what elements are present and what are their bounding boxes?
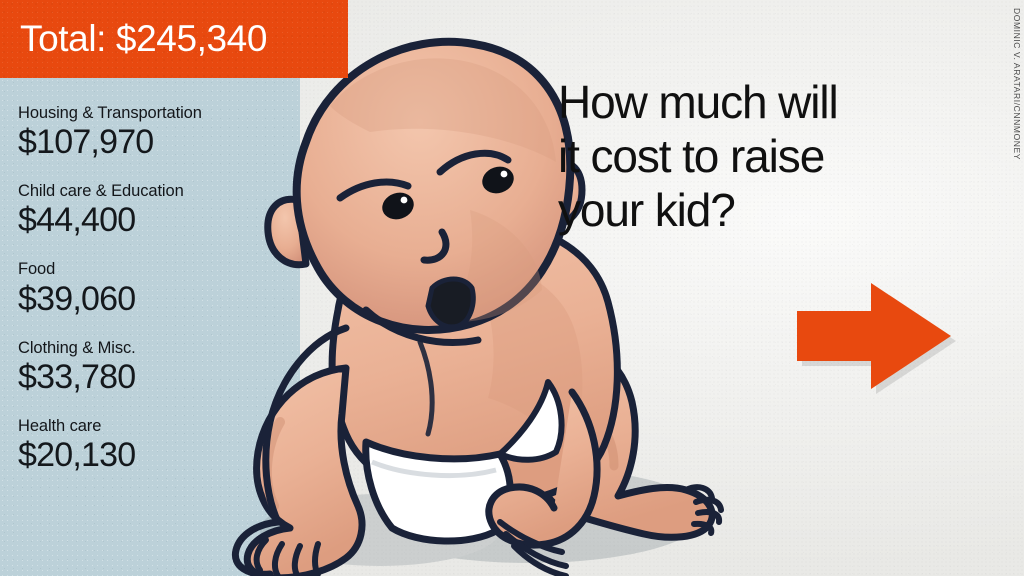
headline-line-3: your kid? (558, 184, 978, 238)
headline-line-2: it cost to raise (558, 130, 978, 184)
headline-line-1: How much will (558, 76, 978, 130)
page-title: How much will it cost to raise your kid? (558, 76, 978, 237)
right-arrow-icon (797, 283, 951, 389)
total-banner-label: Total: $245,340 (0, 18, 267, 60)
next-arrow-button[interactable] (793, 277, 955, 395)
total-banner: Total: $245,340 (0, 0, 348, 78)
photo-credit: DOMINIC V. ARATARI/CNNMONEY (1012, 8, 1022, 160)
infographic-canvas: Total: $245,340 Housing & Transportation… (0, 0, 1024, 576)
